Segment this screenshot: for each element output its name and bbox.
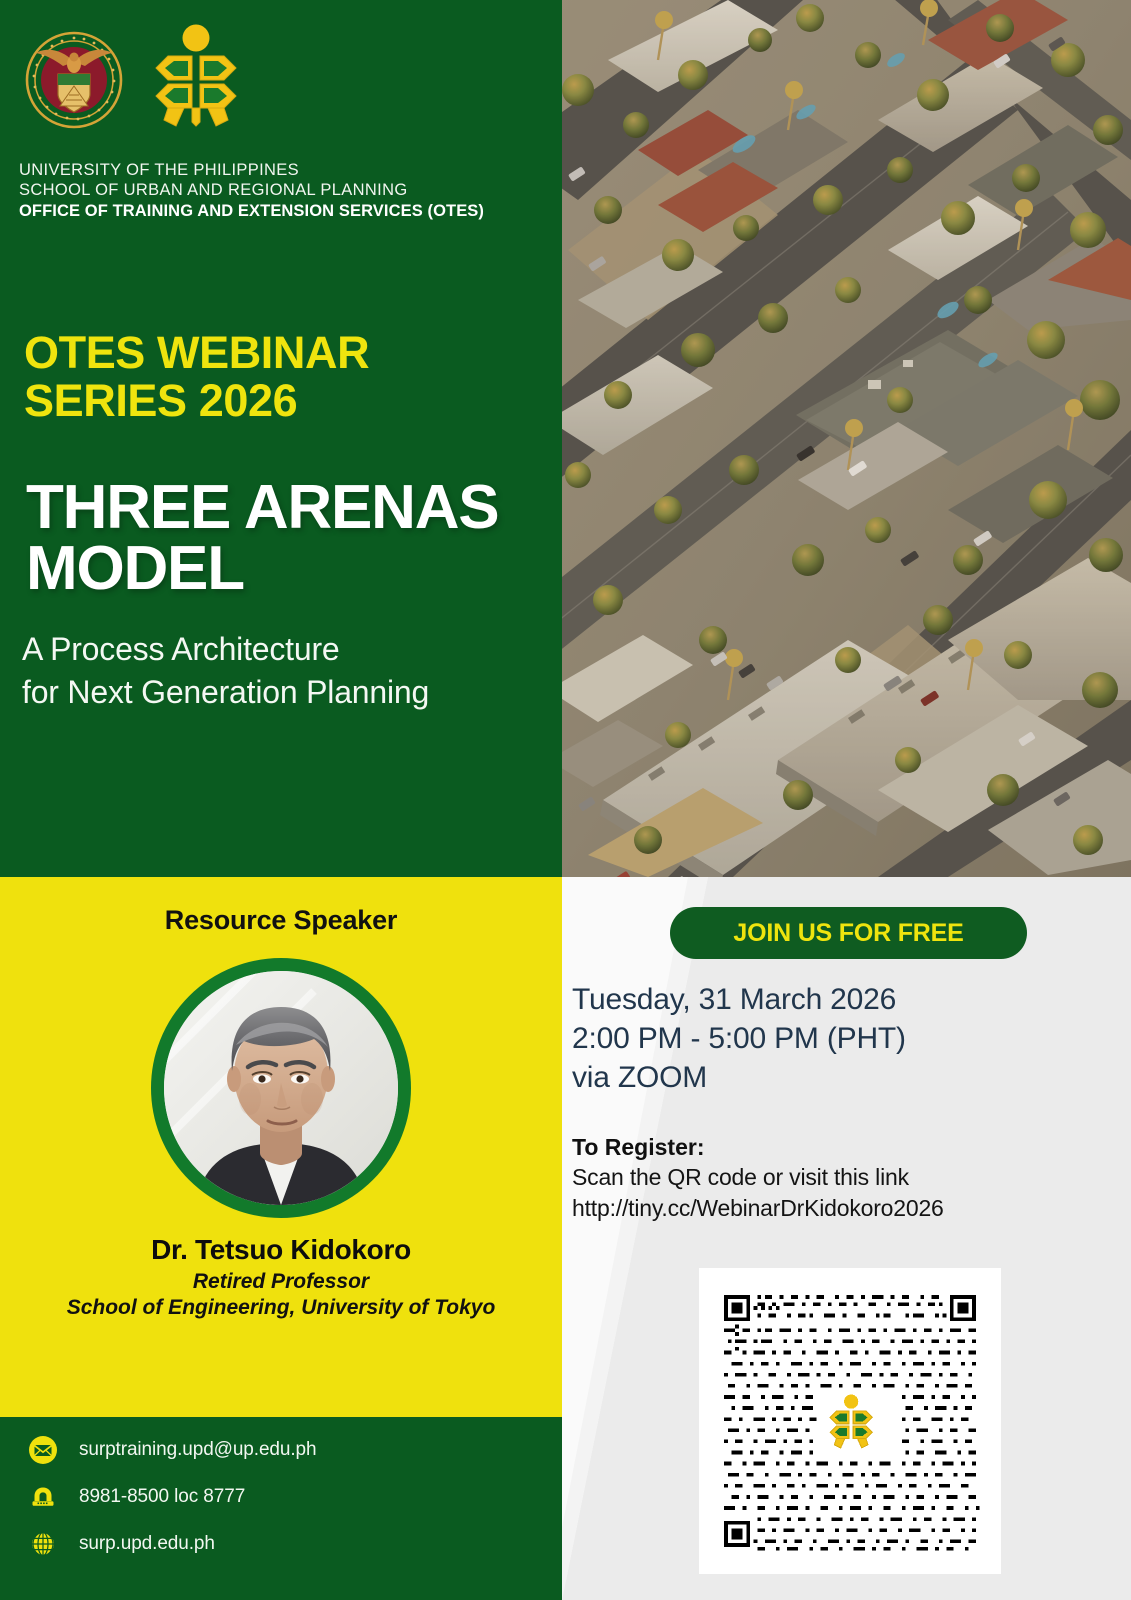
contact-phone-row[interactable]: 8981-8500 loc 8777 [28, 1482, 245, 1512]
green-accent-stripe [548, 1417, 562, 1600]
join-us-for-free-button[interactable]: JOIN US FOR FREE [670, 907, 1027, 959]
series-line-1: OTES WEBINAR [24, 329, 369, 377]
register-heading: To Register: [572, 1134, 704, 1161]
contact-website-row[interactable]: surp.upd.edu.ph [28, 1529, 215, 1559]
org-line-school: SCHOOL OF URBAN AND REGIONAL PLANNING [19, 180, 484, 200]
speaker-portrait [164, 971, 398, 1205]
title-line-1: THREE ARENAS [26, 478, 498, 539]
event-time: 2:00 PM - 5:00 PM (PHT) [572, 1019, 906, 1058]
event-date: Tuesday, 31 March 2026 [572, 980, 906, 1019]
register-link[interactable]: http://tiny.cc/WebinarDrKidokoro2026 [572, 1193, 944, 1224]
event-schedule: Tuesday, 31 March 2026 2:00 PM - 5:00 PM… [572, 980, 906, 1097]
subtitle-line-2: for Next Generation Planning [22, 671, 429, 714]
contact-website-text: surp.upd.edu.ph [79, 1533, 215, 1555]
contact-email-row[interactable]: surptraining.upd@up.edu.ph [28, 1435, 316, 1465]
contact-phone-text: 8981-8500 loc 8777 [79, 1486, 245, 1508]
surp-logo [148, 22, 244, 130]
speaker-affiliation: Retired Professor School of Engineering,… [0, 1269, 562, 1322]
register-details: Scan the QR code or visit this link http… [572, 1162, 944, 1223]
globe-icon [28, 1529, 58, 1559]
contact-email-text: surptraining.upd@up.edu.ph [79, 1439, 316, 1461]
page-title: THREE ARENAS MODEL [26, 478, 498, 600]
resource-speaker-label: Resource Speaker [0, 905, 562, 936]
organization-block: UNIVERSITY OF THE PHILIPPINES SCHOOL OF … [19, 160, 484, 221]
hero-green-panel: UNIVERSITY OF THE PHILIPPINES SCHOOL OF … [0, 0, 562, 877]
contact-footer: surptraining.upd@up.edu.ph 8981-8500 loc… [0, 1417, 562, 1600]
speaker-name: Dr. Tetsuo Kidokoro [0, 1234, 562, 1266]
webinar-poster: UNIVERSITY OF THE PHILIPPINES SCHOOL OF … [0, 0, 1131, 1600]
up-seal-logo [22, 22, 126, 134]
telephone-icon [28, 1482, 58, 1512]
yellow-accent-stripe [548, 877, 562, 1417]
registration-panel: JOIN US FOR FREE Tuesday, 31 March 2026 … [548, 877, 1131, 1600]
speaker-role-line-1: Retired Professor [0, 1269, 562, 1295]
registration-qr-code[interactable] [699, 1268, 1001, 1574]
webinar-series-title: OTES WEBINAR SERIES 2026 [24, 329, 369, 425]
org-line-office: OFFICE OF TRAINING AND EXTENSION SERVICE… [19, 201, 484, 221]
org-line-university: UNIVERSITY OF THE PHILIPPINES [19, 160, 484, 180]
logo-group [22, 22, 244, 134]
aerial-neighborhood-photo [548, 0, 1131, 877]
subtitle-line-1: A Process Architecture [22, 628, 429, 671]
speaker-panel: Resource Speaker [0, 877, 562, 1417]
event-platform: via ZOOM [572, 1058, 906, 1097]
envelope-icon [28, 1435, 58, 1465]
register-instruction: Scan the QR code or visit this link [572, 1162, 944, 1193]
speaker-role-line-2: School of Engineering, University of Tok… [0, 1295, 562, 1321]
title-line-2: MODEL [26, 539, 498, 600]
avatar [151, 958, 411, 1218]
series-line-2: SERIES 2026 [24, 377, 369, 425]
page-subtitle: A Process Architecture for Next Generati… [22, 628, 429, 713]
